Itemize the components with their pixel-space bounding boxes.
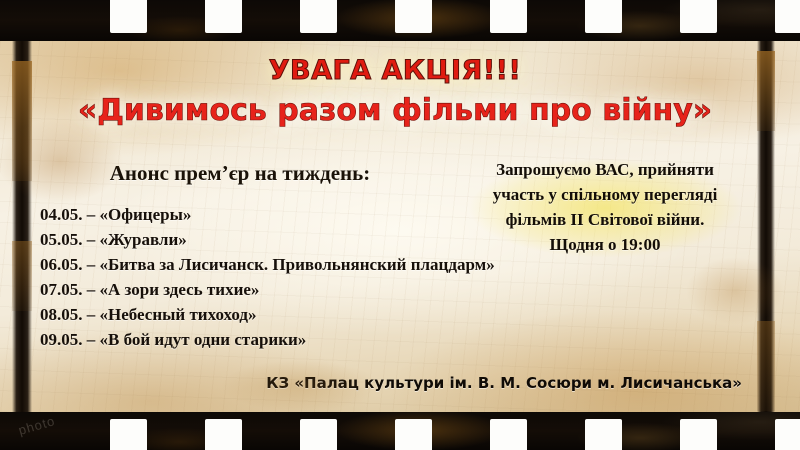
- invitation-line: Щодня о 19:00: [450, 232, 760, 257]
- sprocket-hole: [680, 0, 717, 33]
- sprocket-hole: [205, 419, 242, 450]
- film-poster: УВАГА АКЦІЯ!!! «Дивимось разом фільми пр…: [0, 0, 800, 450]
- organization-footer: КЗ «Палац культури ім. В. М. Сосюри м. Л…: [34, 374, 756, 392]
- parchment-background: УВАГА АКЦІЯ!!! «Дивимось разом фільми пр…: [0, 41, 800, 412]
- schedule-item: 05.05. – «Журавли»: [40, 227, 440, 252]
- schedule-item: 06.05. – «Битва за Лисичанск. Привольнян…: [40, 252, 440, 277]
- sprocket-hole: [110, 0, 147, 33]
- film-frame-edge-left: [12, 41, 32, 412]
- film-strip-top: [0, 0, 800, 41]
- sprocket-hole: [490, 0, 527, 33]
- film-strip-bottom: [0, 412, 800, 450]
- schedule-heading: Анонс прем’єр на тиждень:: [40, 161, 440, 186]
- sprocket-hole: [680, 419, 717, 450]
- sprocket-hole: [300, 419, 337, 450]
- sprocket-hole: [205, 0, 242, 33]
- schedule-list: 04.05. – «Офицеры» 05.05. – «Журавли» 06…: [40, 202, 440, 352]
- sprocket-hole: [585, 0, 622, 33]
- invitation-line: фільмів ІІ Світової війни.: [450, 207, 760, 232]
- sprocket-hole: [110, 419, 147, 450]
- sprocket-hole: [775, 0, 800, 33]
- sprocket-hole: [585, 419, 622, 450]
- sprocket-hole: [775, 419, 800, 450]
- schedule-column: Анонс прем’єр на тиждень: 04.05. – «Офиц…: [40, 161, 440, 352]
- invitation-line: участь у спільному перегляді: [450, 182, 760, 207]
- schedule-item: 04.05. – «Офицеры»: [40, 202, 440, 227]
- sprocket-hole: [395, 0, 432, 33]
- sprocket-hole: [395, 419, 432, 450]
- schedule-item: 08.05. – «Небесный тихоход»: [40, 302, 440, 327]
- poster-content: УВАГА АКЦІЯ!!! «Дивимось разом фільми пр…: [34, 41, 756, 412]
- sprocket-hole: [300, 0, 337, 33]
- schedule-item: 07.05. – «А зори здесь тихие»: [40, 277, 440, 302]
- invitation-line: Запрошуємо ВАС, прийняти: [450, 157, 760, 182]
- headline-secondary: «Дивимось разом фільми про війну»: [34, 93, 756, 128]
- sprocket-hole: [490, 419, 527, 450]
- schedule-item: 09.05. – «В бой идут одни старики»: [40, 327, 440, 352]
- headline-primary: УВАГА АКЦІЯ!!!: [34, 55, 756, 86]
- invitation-block: Запрошуємо ВАС, прийняти участь у спільн…: [446, 151, 764, 265]
